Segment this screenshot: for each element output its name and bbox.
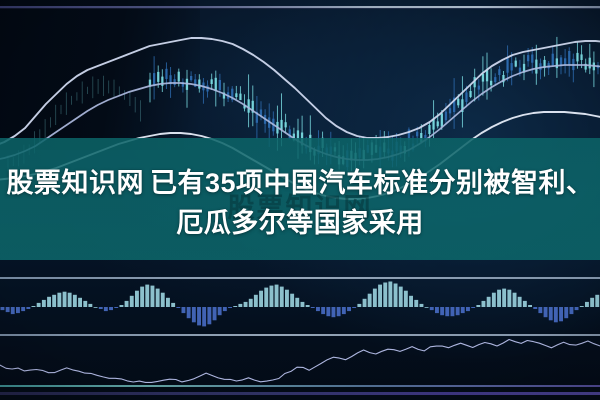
candle-body [280, 120, 282, 130]
top-rule-shadow [0, 8, 600, 9]
candle-body [589, 58, 591, 69]
candle-body [465, 92, 467, 102]
candle-body [239, 94, 241, 101]
candle-body [494, 77, 496, 82]
candle-body [198, 80, 200, 89]
panel-separator-1 [0, 277, 600, 279]
ma-line-1 [0, 38, 600, 146]
panel-separator-3 [0, 385, 600, 387]
headline-text: 股票知识网已有35项中国汽车标准分别被智利、 厄瓜多尔等国家采用 [0, 163, 600, 243]
candle-body [285, 122, 287, 127]
candle-body [235, 93, 237, 97]
candle-body [449, 108, 451, 113]
candle-body [478, 86, 480, 90]
candle-body [416, 132, 418, 137]
candle-body [178, 72, 180, 82]
candle-body [576, 53, 578, 62]
panel-separator-2 [0, 334, 600, 336]
candle-body [248, 99, 250, 112]
candle-body [153, 73, 155, 85]
candle-body [527, 55, 529, 61]
candle-body [211, 79, 213, 84]
candle-body [552, 54, 554, 65]
candle-body [157, 72, 159, 82]
headline-line-1-text: 已有35项中国汽车标准分别被智利、 [150, 168, 594, 198]
candle-body [535, 60, 537, 74]
candle-body [469, 91, 471, 97]
candle-body [215, 78, 217, 91]
candle-body [457, 99, 459, 106]
candle-body [511, 63, 513, 70]
candle-body [490, 81, 492, 86]
thumbnail-image: 股票知识网 股票知识网已有35项中国汽车标准分别被智利、 厄瓜多尔等国家采用 [0, 0, 600, 400]
candle-body [219, 80, 221, 90]
candle-body [437, 121, 439, 126]
candle-body [174, 79, 176, 85]
candle-body [531, 55, 533, 63]
candle-body [428, 125, 430, 134]
candle-body [498, 69, 500, 75]
candle-body [482, 74, 484, 82]
candle-body [568, 51, 570, 65]
headline-line-2: 厄瓜多尔等国家采用 [0, 203, 600, 243]
candle-body [165, 69, 167, 79]
headline-line-1: 股票知识网已有35项中国汽车标准分别被智利、 [0, 163, 600, 203]
site-label: 股票知识网 [6, 168, 144, 198]
candle-body [190, 76, 192, 80]
candle-body [506, 58, 508, 73]
candle-body [515, 61, 517, 67]
candle-body [441, 113, 443, 126]
candle-body [445, 112, 447, 121]
candle-body [580, 54, 582, 60]
candle-body [564, 58, 566, 64]
bottom-rule [0, 392, 600, 395]
